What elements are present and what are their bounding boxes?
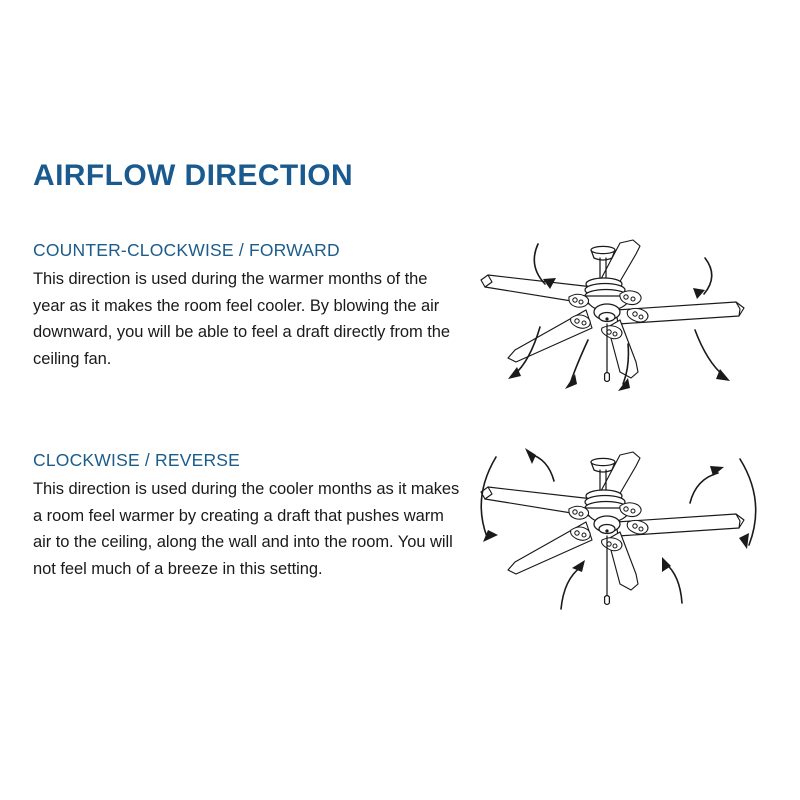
section-clockwise: CLOCKWISE / REVERSE This direction is us…: [33, 450, 463, 583]
page-title: AIRFLOW DIRECTION: [33, 161, 353, 191]
section-counter-clockwise: COUNTER-CLOCKWISE / FORWARD This directi…: [33, 240, 463, 373]
infographic-page: AIRFLOW DIRECTION COUNTER-CLOCKWISE / FO…: [0, 0, 800, 800]
ceiling-fan-downdraft-diagram: [468, 232, 768, 417]
section-heading-clockwise: CLOCKWISE / REVERSE: [33, 450, 463, 471]
section-body-clockwise: This direction is used during the cooler…: [33, 476, 463, 583]
ceiling-fan-updraft-diagram: [468, 437, 768, 627]
section-body-counter-clockwise: This direction is used during the warmer…: [33, 266, 463, 373]
section-heading-counter-clockwise: COUNTER-CLOCKWISE / FORWARD: [33, 240, 463, 261]
